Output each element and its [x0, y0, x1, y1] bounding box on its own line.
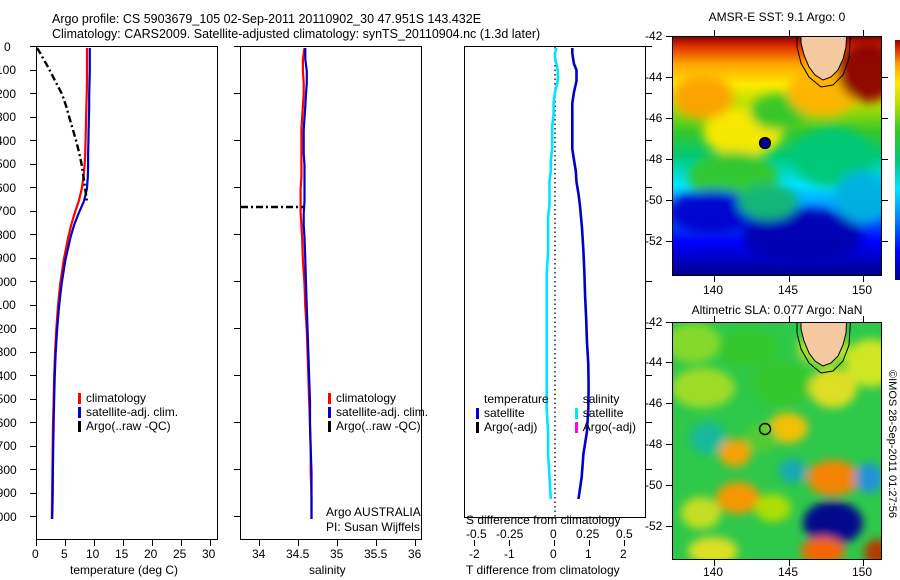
legend-swatch-salinity-satellite [575, 408, 578, 419]
salinity-plot [241, 47, 421, 539]
legend-item-salinity-satellite: satellite [575, 406, 636, 420]
legend-label-climatology: climatology [336, 391, 396, 405]
legend-item-climatology: climatology [78, 391, 178, 405]
argo-pi-name: PI: Susan Wijffels [326, 520, 421, 535]
legend-label-temperature-argo: Argo(-adj) [484, 420, 537, 434]
legend-label-salinity-satellite: satellite [583, 406, 624, 420]
temperature-legend: climatology satellite-adj. clim. Argo(..… [78, 391, 178, 433]
sst-map-field [673, 37, 881, 275]
legend-label-climatology: climatology [86, 391, 146, 405]
legend-swatch-temperature-argo [476, 422, 479, 433]
plot-title-line1: Argo profile: CS 5903679_105 02-Sep-2011… [52, 12, 481, 27]
legend-item-temperature-satellite: satellite [476, 406, 549, 420]
legend-label-satellite-adj: satellite-adj. clim. [86, 405, 178, 419]
legend-item-satellite-adj: satellite-adj. clim. [328, 405, 428, 419]
legend-item-salinity-argo: Argo(-adj) [575, 420, 636, 434]
sst-map-title: AMSR-E SST: 9.1 Argo: 0 [672, 10, 882, 24]
difference-legend-temperature-column: temperature satellite Argo(-adj) [476, 392, 549, 434]
temperature-difference-axis-label: T difference from climatology [466, 563, 620, 577]
argo-program-note: Argo AUSTRALIA PI: Susan Wijffels [326, 505, 421, 535]
legend-item-argo-raw: Argo(..raw -QC) [78, 419, 178, 433]
legend-label-satellite-adj: satellite-adj. clim. [336, 405, 428, 419]
legend-item-satellite-adj: satellite-adj. clim. [78, 405, 178, 419]
legend-swatch-climatology [78, 393, 81, 404]
temperature-argo-raw-line [37, 48, 87, 201]
legend-swatch-argo-raw [78, 421, 81, 432]
salinity-panel [240, 46, 422, 540]
legend-swatch-temperature-satellite [476, 408, 479, 419]
sla-map-panel [672, 322, 882, 560]
legend-swatch-satellite-adj [328, 407, 331, 418]
temperature-plot [37, 47, 217, 539]
salinity-difference-axis-label: S difference from climatology [466, 513, 621, 527]
legend-label-temperature-satellite: satellite [484, 406, 525, 420]
imos-credit: ©IMOS 28-Sep-2011 01:27:56 [886, 370, 898, 518]
legend-header-temperature: temperature [476, 392, 549, 406]
plot-title-line2: Climatology: CARS2009. Satellite-adjuste… [52, 27, 540, 42]
temperature-x-axis-label: temperature (deg C) [70, 563, 178, 577]
legend-swatch-salinity-argo [575, 422, 578, 433]
argo-profile-marker[interactable] [760, 138, 771, 149]
salinity-x-axis-label: salinity [309, 563, 346, 577]
legend-label-salinity-argo: Argo(-adj) [583, 420, 636, 434]
difference-panel [464, 46, 646, 518]
argo-program-name: Argo AUSTRALIA [326, 505, 421, 520]
legend-item-argo-raw: Argo(..raw -QC) [328, 419, 428, 433]
legend-swatch-climatology [328, 393, 331, 404]
legend-label-argo-raw: Argo(..raw -QC) [86, 419, 171, 433]
legend-swatch-argo-raw [328, 421, 331, 432]
difference-plot [465, 47, 645, 517]
sla-map-title: Altimetric SLA: 0.077 Argo: NaN [672, 303, 882, 317]
salinity-legend: climatology satellite-adj. clim. Argo(..… [328, 391, 428, 433]
legend-item-temperature-argo: Argo(-adj) [476, 420, 549, 434]
colorbar [895, 40, 900, 280]
legend-header-salinity: salinity [575, 392, 636, 406]
temperature-satellite-line [52, 48, 90, 519]
sla-map-field [673, 323, 881, 559]
temperature-panel [36, 46, 218, 540]
difference-legend: temperature satellite Argo(-adj) salinit… [476, 392, 636, 434]
difference-legend-salinity-column: salinity satellite Argo(-adj) [575, 392, 636, 434]
legend-swatch-satellite-adj [78, 407, 81, 418]
legend-label-argo-raw: Argo(..raw -QC) [336, 419, 421, 433]
legend-item-climatology: climatology [328, 391, 428, 405]
sst-map-panel [672, 36, 882, 276]
